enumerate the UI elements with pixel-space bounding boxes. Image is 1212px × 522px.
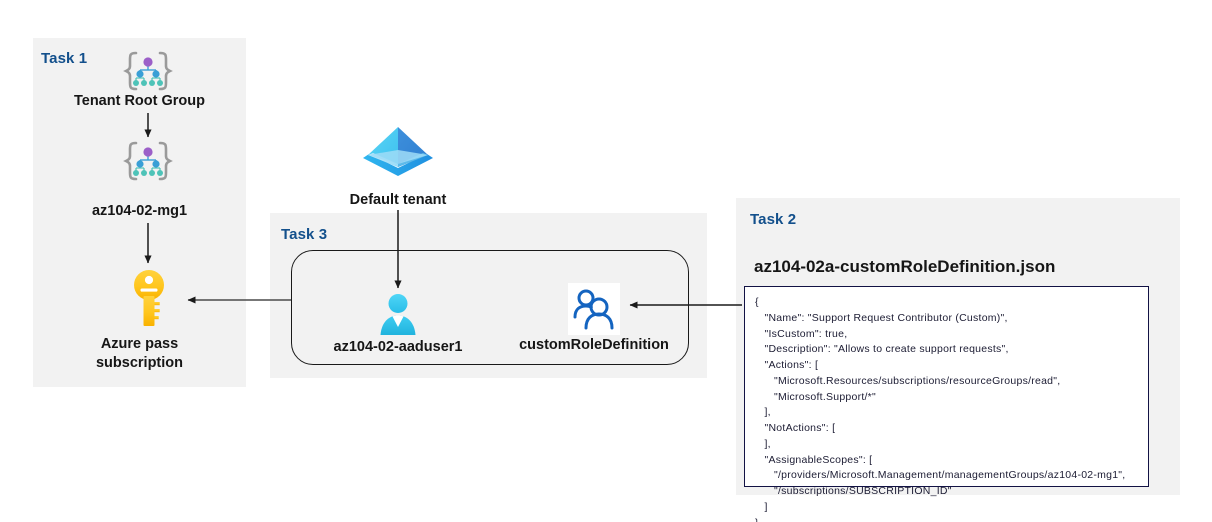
management-group-icon <box>122 49 174 93</box>
task2-label: Task 2 <box>750 211 796 228</box>
azure-tenant-icon-svg <box>357 120 439 190</box>
role-definition-icon-svg <box>568 283 620 335</box>
azure-tenant-icon <box>357 120 439 190</box>
management-group-icon-svg <box>122 49 174 93</box>
azure-pass-subscription-label-line1: Azure pass <box>33 335 246 353</box>
key-icon-svg <box>126 268 172 330</box>
json-code-content: { "Name": "Support Request Contributor (… <box>755 295 1138 522</box>
user-icon <box>375 291 421 337</box>
diagram-canvas: Task 1 Tenant Root Group <box>0 0 1212 522</box>
tenant-root-group-label: Tenant Root Group <box>33 92 246 110</box>
json-code-box: { "Name": "Support Request Contributor (… <box>744 286 1149 487</box>
default-tenant-label: Default tenant <box>298 191 498 209</box>
key-icon <box>126 268 172 330</box>
az104-02-mg1-label: az104-02-mg1 <box>33 202 246 220</box>
management-group-icon <box>122 139 174 183</box>
management-group-icon-svg <box>122 139 174 183</box>
customroledefinition-label: customRoleDefinition <box>494 336 694 354</box>
json-file-name: az104-02a-customRoleDefinition.json <box>754 257 1055 277</box>
task3-label: Task 3 <box>281 226 327 243</box>
azure-pass-subscription-label-line2: subscription <box>33 354 246 372</box>
role-definition-icon <box>568 283 620 335</box>
user-icon-svg <box>375 291 421 337</box>
az104-02-aaduser1-label: az104-02-aaduser1 <box>293 338 503 356</box>
task1-label: Task 1 <box>41 50 87 67</box>
